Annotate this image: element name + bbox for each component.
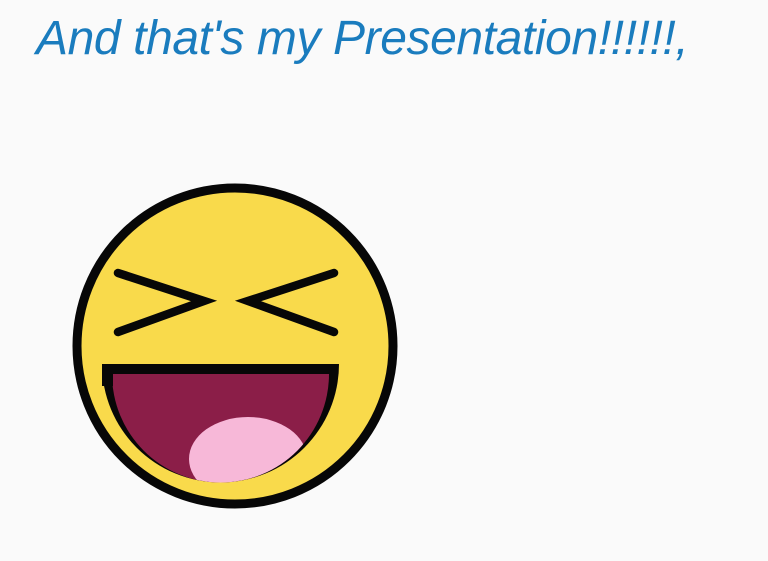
slide-title: And that's my Presentation!!!!!!, [36, 8, 696, 70]
emoji-figure: Awesome Face smiley with closed >< eyes … [62, 176, 408, 522]
awesome-face-icon: Awesome Face smiley with closed >< eyes … [62, 176, 408, 522]
mouth-left-lip-tick [102, 364, 113, 386]
presentation-slide: And that's my Presentation!!!!!!, Awesom… [0, 0, 768, 561]
